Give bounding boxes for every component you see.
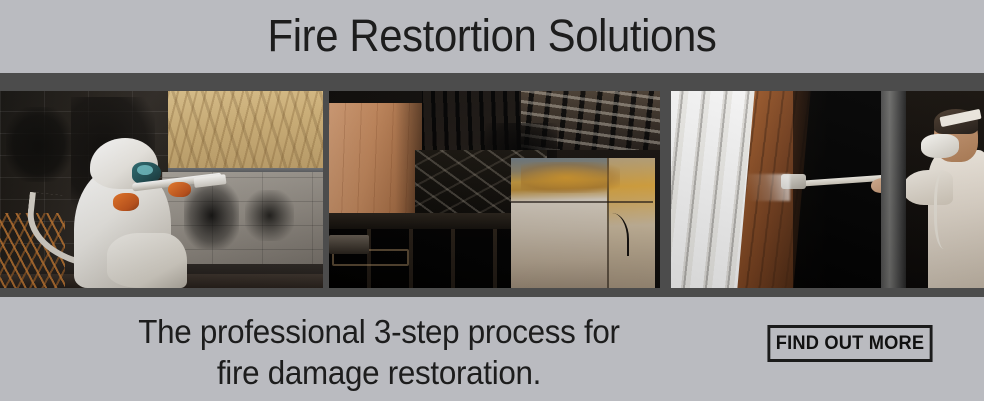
gallery-photo-siding-spray xyxy=(671,91,984,288)
gallery-photo-burnt-kitchen xyxy=(329,91,660,288)
photo-3-overlay xyxy=(671,91,984,288)
fire-restoration-banner: Fire Restortion Solutions xyxy=(0,0,984,401)
photo-1-overlay xyxy=(0,91,323,288)
photo-2-scene xyxy=(329,91,660,288)
photo-strip xyxy=(0,73,984,297)
gallery-photo-hazmat-worker xyxy=(0,91,323,288)
tagline: The professional 3-step process for fire… xyxy=(32,311,726,393)
photo-2-overlay xyxy=(329,91,660,288)
tagline-line-1: The professional 3-step process for xyxy=(32,311,726,352)
photo-1-scene xyxy=(0,91,323,288)
find-out-more-button[interactable]: FIND OUT MORE xyxy=(767,325,932,362)
page-title: Fire Restortion Solutions xyxy=(34,8,949,64)
photo-3-scene xyxy=(671,91,984,288)
tagline-line-2: fire damage restoration. xyxy=(32,352,726,393)
